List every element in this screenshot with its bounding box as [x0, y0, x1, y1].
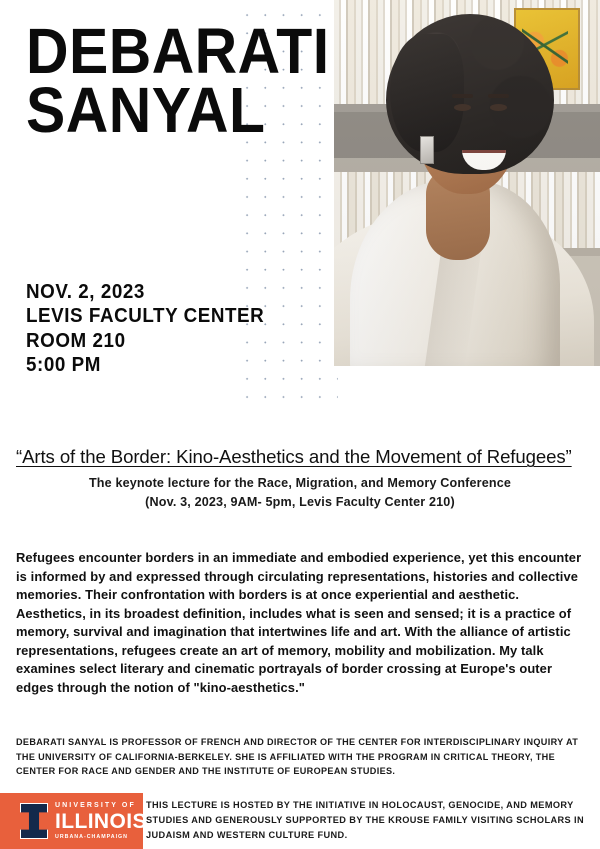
- abstract-paragraph-2: Aesthetics, in its broadest definition, …: [16, 605, 586, 698]
- lecture-subtitle-line-2: (Nov. 3, 2023, 9AM- 5pm, Levis Faculty C…: [16, 493, 584, 511]
- footer-section: UNIVERSITY OF ILLINOIS URBANA-CHAMPAIGN …: [0, 793, 600, 849]
- photo-eyebrow-left: [452, 94, 473, 98]
- logo-wordmark: UNIVERSITY OF ILLINOIS URBANA-CHAMPAIGN: [55, 802, 147, 840]
- sponsor-statement: This lecture is hosted by the Initiative…: [146, 798, 592, 843]
- event-room: ROOM 210: [26, 329, 264, 353]
- university-of-illinois-logo: UNIVERSITY OF ILLINOIS URBANA-CHAMPAIGN: [0, 793, 143, 849]
- abstract-block: Refugees encounter borders in an immedia…: [16, 549, 586, 698]
- logo-illinois-text: ILLINOIS: [55, 811, 147, 832]
- block-i-icon: [20, 803, 48, 839]
- lecture-heading-block: “Arts of the Border: Kino-Aesthetics and…: [16, 445, 584, 511]
- speaker-portrait-photo: [334, 0, 600, 366]
- event-venue: LEVIS FACULTY CENTER: [26, 304, 264, 328]
- event-time: 5:00 PM: [26, 353, 264, 377]
- speaker-bio: Debarati Sanyal is Professor of French a…: [16, 735, 586, 779]
- lecture-subtitle-line-1: The keynote lecture for the Race, Migrat…: [16, 474, 584, 492]
- photo-eye-right: [490, 104, 507, 111]
- photo-eye-left: [454, 104, 471, 111]
- abstract-paragraph-1: Refugees encounter borders in an immedia…: [16, 549, 586, 605]
- lecture-title: “Arts of the Border: Kino-Aesthetics and…: [16, 445, 584, 469]
- poster-canvas: DEBARATI SANYAL NOV. 2, 2023 LEVIS FACUL…: [0, 0, 600, 849]
- hero-section: DEBARATI SANYAL NOV. 2, 2023 LEVIS FACUL…: [0, 0, 600, 432]
- photo-hair-front-curl: [390, 34, 464, 152]
- photo-earring: [420, 136, 434, 164]
- speaker-name-first: DEBARATI: [26, 22, 330, 81]
- event-date: NOV. 2, 2023: [26, 280, 264, 304]
- event-details: NOV. 2, 2023 LEVIS FACULTY CENTER ROOM 2…: [26, 280, 280, 378]
- speaker-name: DEBARATI SANYAL: [26, 22, 356, 140]
- logo-urbana-champaign-text: URBANA-CHAMPAIGN: [55, 835, 147, 840]
- speaker-name-last: SANYAL: [26, 81, 330, 140]
- logo-university-of-text: UNIVERSITY OF: [55, 802, 147, 809]
- lecture-subtitle: The keynote lecture for the Race, Migrat…: [16, 474, 584, 511]
- photo-eyebrow-right: [488, 94, 509, 98]
